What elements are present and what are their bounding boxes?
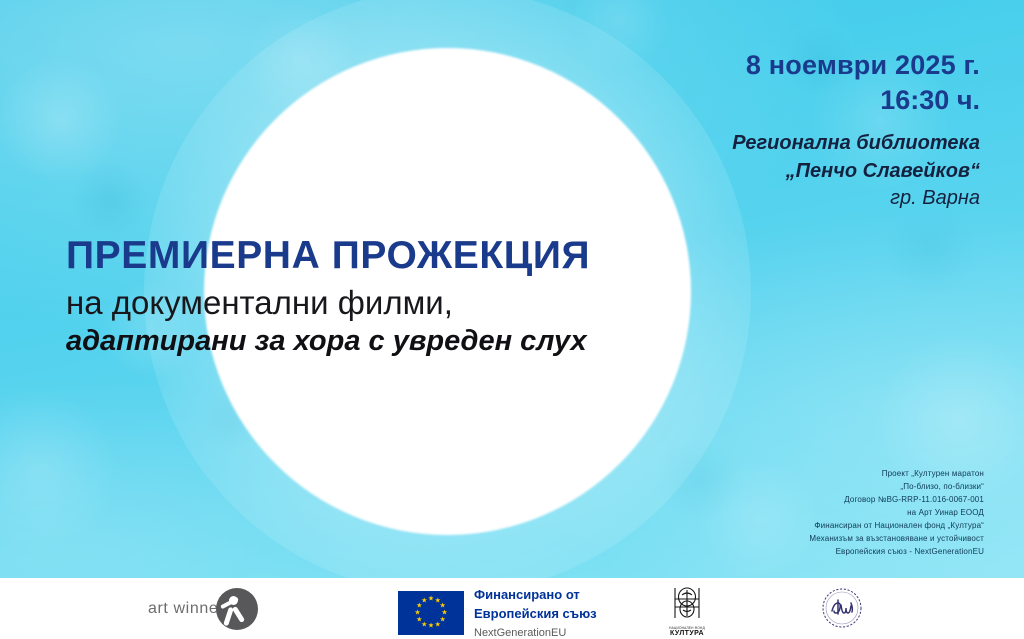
frmi-seal-icon: фрми: [820, 586, 864, 630]
eu-star-icon: ★: [428, 596, 434, 603]
event-info-block: 8 ноември 2025 г. 16:30 ч. Регионална би…: [732, 48, 980, 213]
page-title: ПРЕМИЕРНА ПРОЖЕКЦИЯ: [66, 236, 590, 277]
eu-flag-icon: ★★★★★★★★★★★★: [398, 591, 464, 635]
funding-note-line: на Арт Уинар ЕООД: [809, 507, 984, 520]
event-time: 16:30 ч.: [732, 83, 980, 118]
poster-canvas: 8 ноември 2025 г. 16:30 ч. Регионална би…: [0, 0, 1024, 639]
subtitle-line-1: на документални филми,: [66, 285, 590, 322]
eu-star-icon: ★: [421, 598, 427, 605]
nfk-caption: КУЛТУРА: [666, 630, 708, 637]
eu-star-icon: ★: [435, 621, 441, 628]
eu-label-line-1: Финансирано от: [474, 587, 580, 602]
funding-note-line: Европейския съюз - NextGenerationEU: [809, 546, 984, 559]
funding-note-line: Договор №BG-RRP-11.016-0067-001: [809, 494, 984, 507]
venue-line-2: „Пенчо Славейков“: [732, 158, 980, 186]
footer-logo-bar: art winner ★★★★★★★★★★★★ Финансирано от Е…: [0, 578, 1024, 639]
funding-note-line: Механизъм за възстановяване и устойчивос…: [809, 533, 984, 546]
event-venue: Регионална библиотека „Пенчо Славейков“ …: [732, 130, 980, 213]
event-date: 8 ноември 2025 г.: [732, 48, 980, 83]
logo-art-winner: art winner: [148, 588, 258, 630]
logo-national-culture-fund: НАЦИОНАЛЕН ФОНД КУЛТУРА: [666, 586, 708, 637]
logo-european-union: ★★★★★★★★★★★★ Финансирано от Европейския …: [398, 586, 597, 639]
eu-label-line-3: NextGenerationEU: [474, 627, 597, 639]
funding-note-line: Финансиран от Национален фонд „Култура“: [809, 520, 984, 533]
venue-line-1: Регионална библиотека: [732, 130, 980, 158]
nfk-monogram-icon: [666, 607, 708, 624]
runner-circle-icon: [216, 588, 258, 630]
funding-note-line: Проект „Културен маратон: [809, 468, 984, 481]
eu-label-line-2: Европейския съюз: [474, 606, 597, 621]
venue-city: гр. Варна: [732, 185, 980, 213]
title-block: ПРЕМИЕРНА ПРОЖЕКЦИЯ на документални филм…: [66, 236, 590, 358]
funding-note-line: „По-близо, по-близки“: [809, 481, 984, 494]
frmi-caption: фрми: [864, 586, 865, 587]
eu-label-group: Финансирано от Европейския съюз NextGene…: [474, 586, 597, 639]
subtitle-line-2: адаптирани за хора с увреден слух: [66, 325, 590, 358]
eu-star-icon: ★: [416, 616, 422, 623]
art-winner-label: art winner: [148, 600, 224, 618]
eu-star-icon: ★: [414, 609, 420, 616]
funding-note: Проект „Културен маратон „По-близо, по-б…: [809, 468, 984, 559]
logo-frmi: фрми: [820, 586, 864, 630]
eu-star-icon: ★: [428, 623, 434, 630]
